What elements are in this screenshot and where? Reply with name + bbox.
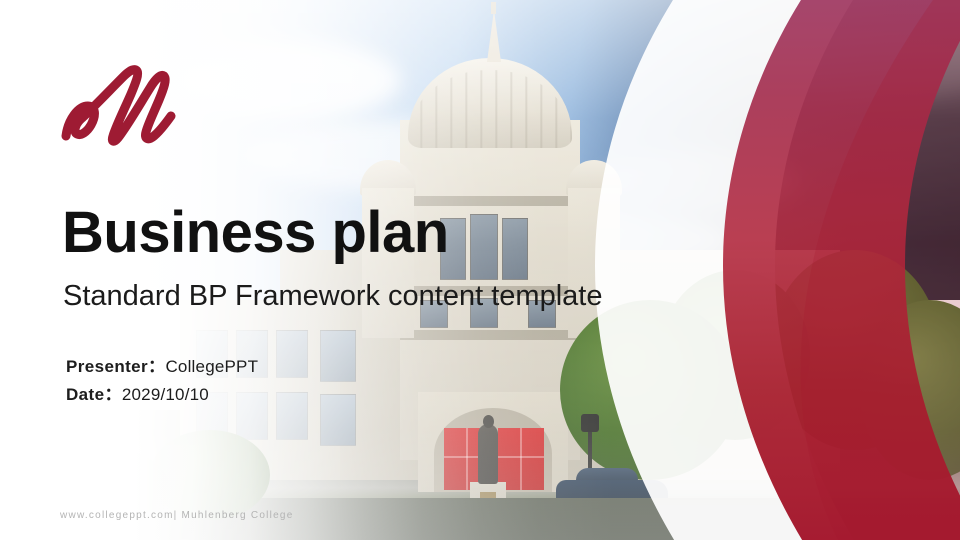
slide-content: Business plan Standard BP Framework cont…	[0, 0, 960, 540]
page-title: Business plan	[62, 203, 449, 264]
date-separator: ：	[104, 385, 121, 404]
presenter-row: Presenter：CollegePPT	[66, 353, 258, 381]
presenter-separator: ：	[148, 357, 165, 376]
page-subtitle: Standard BP Framework content template	[63, 281, 602, 313]
date-value: 2029/10/10	[122, 385, 209, 404]
muhlenberg-m-logo-icon	[58, 62, 188, 158]
footer-credit: www.collegeppt.com| Muhlenberg College	[60, 510, 294, 521]
date-row: Date：2029/10/10	[66, 381, 258, 409]
date-label: Date	[66, 385, 104, 404]
presenter-date-block: Presenter：CollegePPT Date：2029/10/10	[66, 353, 258, 408]
title-slide: Business plan Standard BP Framework cont…	[0, 0, 960, 540]
presenter-label: Presenter	[66, 357, 148, 376]
presenter-value: CollegePPT	[165, 357, 258, 376]
